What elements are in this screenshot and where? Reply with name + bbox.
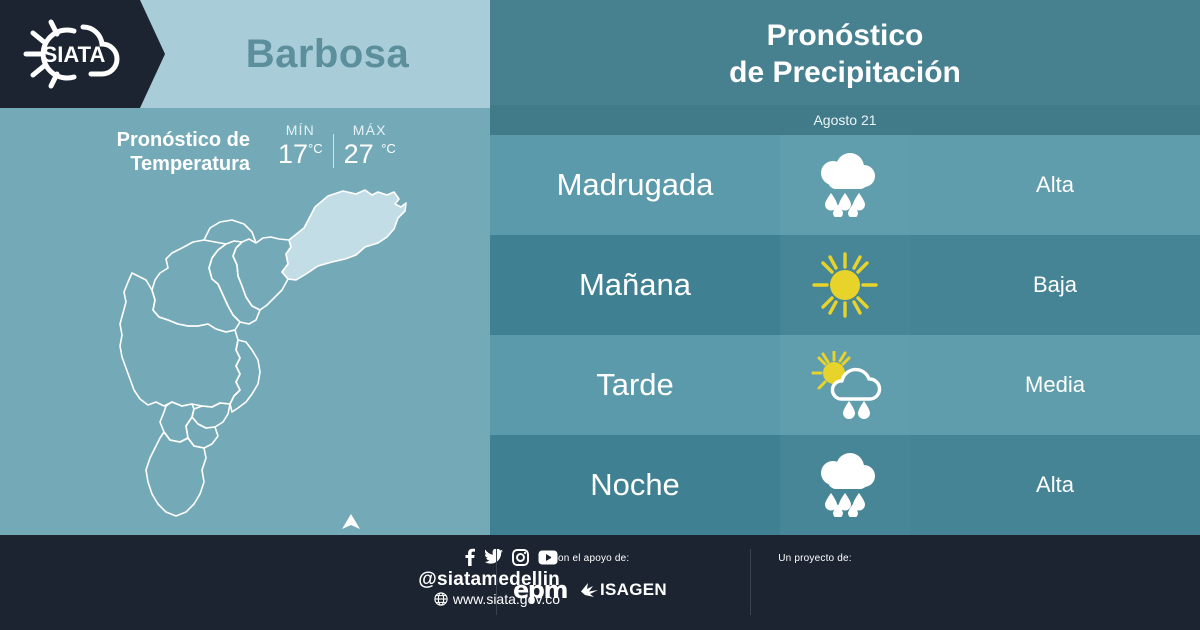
epm-logo: epm: [513, 576, 567, 604]
map-region-bello: [152, 240, 240, 332]
facebook-icon[interactable]: [464, 548, 476, 566]
precipitation-title-line2: de Precipitación: [729, 56, 961, 89]
right-panel: Pronóstico de Precipitación Agosto 21 Ma…: [490, 0, 1200, 535]
precipitation-title-line1: Pronóstico: [767, 19, 924, 52]
temperature-max-label: MÁX: [344, 122, 396, 138]
aburra-valley-map: N: [60, 180, 440, 530]
row-icon: [780, 135, 910, 235]
table-row[interactable]: Mañana Baja: [490, 235, 1200, 335]
forecast-date: Agosto 21: [490, 105, 1200, 135]
support-logos: epm ISAGEN: [500, 576, 680, 604]
row-icon: [780, 335, 910, 435]
temperature-max: MÁX 27 °C: [334, 122, 406, 170]
support-label: Con el apoyo de:: [500, 553, 680, 564]
temperature-title-line1: Pronóstico de: [117, 129, 250, 151]
temperature-values: MÍN 17°C MÁX 27 °C: [268, 122, 406, 170]
sun-cloud-icon: SIATA: [14, 14, 136, 94]
temperature-max-unit: °C: [381, 141, 396, 156]
rain-cloud-icon: [808, 153, 882, 217]
row-period: Madrugada: [490, 167, 780, 203]
sun-icon: [809, 249, 881, 321]
row-level: Media: [910, 372, 1200, 398]
precipitation-title: Pronóstico de Precipitación: [490, 0, 1200, 91]
map-region-barbosa: [282, 190, 406, 280]
temperature-title: Pronóstico de Temperatura: [60, 122, 250, 177]
table-row[interactable]: Tarde: [490, 335, 1200, 435]
row-period: Tarde: [490, 367, 780, 403]
footer-divider-1: [496, 549, 497, 615]
siata-logo-badge: SIATA: [0, 0, 165, 108]
north-arrow-icon: [338, 513, 364, 531]
temperature-min-unit: °C: [308, 141, 323, 156]
temperature-min-label: MÍN: [278, 122, 323, 138]
temperature-title-line2: Temperatura: [130, 153, 250, 175]
rain-cloud-icon: [808, 453, 882, 517]
temperature-block: Pronóstico de Temperatura MÍN 17°C MÁX 2…: [60, 122, 430, 184]
row-level: Baja: [910, 272, 1200, 298]
map-region-envigado: [230, 340, 260, 412]
left-panel: SIATA Barbosa Pronóstico de Temperatura …: [0, 0, 490, 535]
support-block: Con el apoyo de: epm ISAGEN: [500, 553, 680, 604]
isagen-logo: ISAGEN: [581, 580, 667, 600]
table-row[interactable]: Madrugada Alta: [490, 135, 1200, 235]
sun-cloud-rain-icon: [805, 351, 885, 419]
infographic-root: SIATA Barbosa Pronóstico de Temperatura …: [0, 0, 1200, 630]
temperature-min-value: 17°C: [278, 140, 323, 170]
temperature-min: MÍN 17°C: [268, 122, 333, 170]
row-level: Alta: [910, 472, 1200, 498]
map-region-girardota: [233, 237, 291, 310]
globe-icon: [434, 592, 448, 606]
table-row[interactable]: Noche Alta: [490, 435, 1200, 535]
siata-logo-text: SIATA: [43, 42, 106, 67]
map-region-la-estrella: [160, 402, 194, 442]
city-name: Barbosa: [165, 0, 490, 108]
temperature-max-value: 27 °C: [344, 140, 396, 170]
row-level: Alta: [910, 172, 1200, 198]
map-region-sabaneta: [186, 417, 218, 448]
footer: @siatamedellin www.siata.gov.co Con el a…: [0, 535, 1200, 630]
row-icon: [780, 235, 910, 335]
map-region-caldas: [146, 432, 206, 516]
row-icon: [780, 435, 910, 535]
precipitation-header: Pronóstico de Precipitación: [490, 0, 1200, 105]
map-svg: [60, 180, 440, 530]
forecast-table: Madrugada Alta: [490, 135, 1200, 535]
isagen-mark-icon: [581, 583, 598, 598]
row-period: Mañana: [490, 267, 780, 303]
project-block: Un proyecto de:: [715, 553, 915, 576]
project-label: Un proyecto de:: [715, 553, 915, 564]
isagen-logo-text: ISAGEN: [600, 580, 667, 600]
row-period: Noche: [490, 467, 780, 503]
